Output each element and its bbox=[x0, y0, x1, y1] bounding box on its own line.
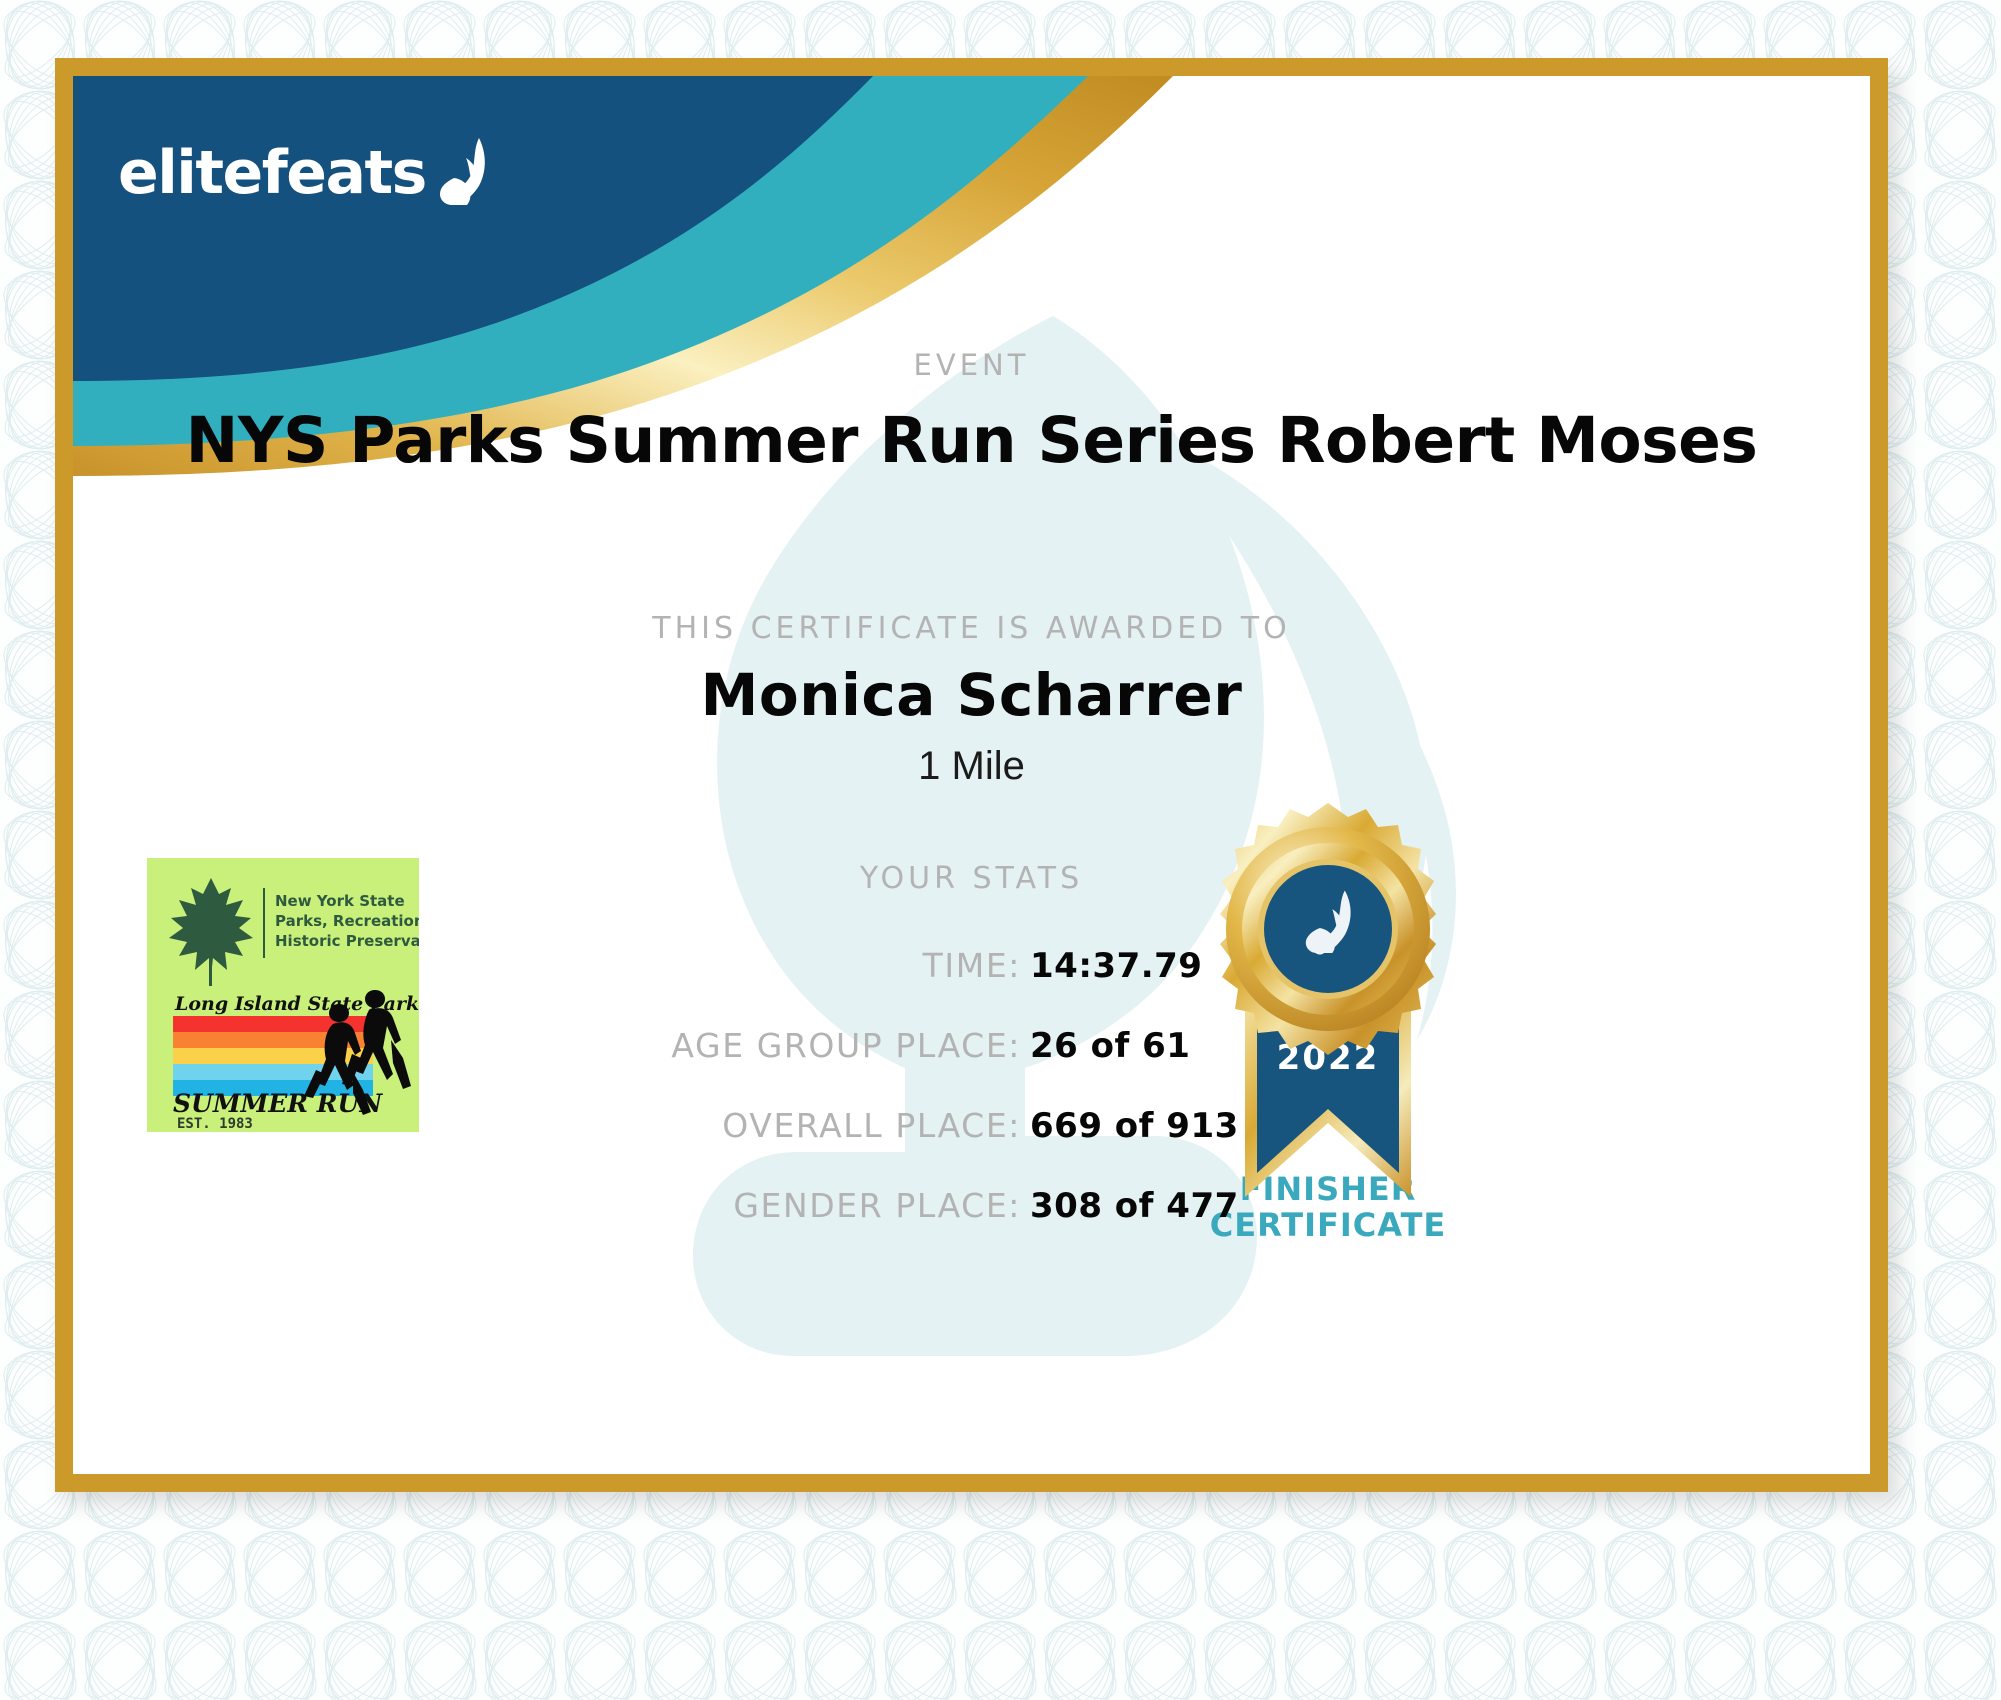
event-label: EVENT bbox=[73, 348, 1870, 382]
stat-label: GENDER PLACE: bbox=[73, 1186, 1030, 1225]
sponsor-agency-line3: Historic Preservation bbox=[275, 932, 419, 950]
sponsor-logo: New York State Parks, Recreation and His… bbox=[147, 858, 419, 1132]
race-distance: 1 Mile bbox=[73, 744, 1870, 789]
sponsor-agency-line2: Parks, Recreation and bbox=[275, 912, 419, 930]
certificate-page: elitefeats EVENT NYS Parks Summer Run Se… bbox=[0, 0, 2001, 1700]
medal-emblem-disc bbox=[1264, 865, 1392, 993]
brand-logo: elitefeats bbox=[118, 134, 504, 212]
certificate-card: elitefeats EVENT NYS Parks Summer Run Se… bbox=[55, 58, 1888, 1492]
sponsor-series-title: SUMMER RUN bbox=[173, 1089, 383, 1118]
certificate-content: EVENT NYS Parks Summer Run Series Robert… bbox=[73, 76, 1870, 1474]
awarded-to-label: THIS CERTIFICATE IS AWARDED TO bbox=[73, 611, 1870, 646]
sponsor-agency-line1: New York State bbox=[275, 892, 405, 910]
recipient-name: Monica Scharrer bbox=[73, 661, 1870, 729]
stat-row-gender-place: GENDER PLACE: 308 of 477 bbox=[73, 1186, 1870, 1250]
finisher-medal: 2022 bbox=[1173, 801, 1483, 1281]
winged-foot-icon bbox=[432, 134, 504, 212]
stat-value: 26 of 61 bbox=[1030, 1026, 1190, 1066]
brand-logo-text: elitefeats bbox=[118, 143, 426, 203]
sponsor-established: EST. 1983 bbox=[177, 1116, 253, 1132]
event-title: NYS Parks Summer Run Series Robert Moses bbox=[73, 404, 1870, 477]
